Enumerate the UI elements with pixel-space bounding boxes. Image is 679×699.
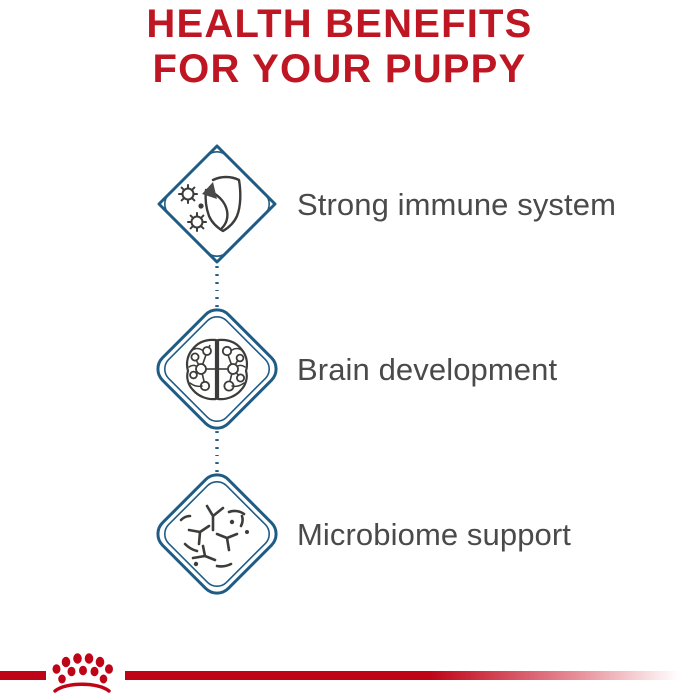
connector-dots-1 <box>155 266 279 307</box>
connector-dot <box>215 282 219 284</box>
connector-dot <box>215 439 219 441</box>
benefit-item-microbiome: Microbiome support <box>0 472 679 637</box>
brand-bar-left <box>0 671 46 680</box>
royal-canin-crown-icon <box>48 652 116 694</box>
connector-dots-2 <box>155 431 279 472</box>
connector-dot <box>215 274 219 276</box>
shield-germs-icon <box>155 142 279 266</box>
connector-dot <box>215 297 219 299</box>
benefit-item-brain: Brain development <box>0 307 679 472</box>
page-title: HEALTH BENEFITS FOR YOUR PUPPY <box>0 0 679 92</box>
brain-network-icon <box>155 307 279 431</box>
footer-brand-bar <box>0 634 679 696</box>
connector-dot <box>215 455 219 457</box>
bacteria-icon <box>155 472 279 596</box>
connector-dot <box>215 266 219 268</box>
connector-dot <box>215 431 219 433</box>
title-line-2: FOR YOUR PUPPY <box>0 47 679 92</box>
brand-bar-right <box>125 671 679 680</box>
connector-dot <box>215 462 219 464</box>
benefits-list: Strong immune system <box>0 142 679 637</box>
benefit-label-microbiome: Microbiome support <box>297 472 679 596</box>
connector-dot <box>215 290 219 292</box>
benefit-label-brain: Brain development <box>297 307 679 431</box>
benefit-item-immune: Strong immune system <box>0 142 679 307</box>
benefit-label-immune: Strong immune system <box>297 142 679 266</box>
connector-dot <box>215 447 219 449</box>
title-line-1: HEALTH BENEFITS <box>0 2 679 47</box>
